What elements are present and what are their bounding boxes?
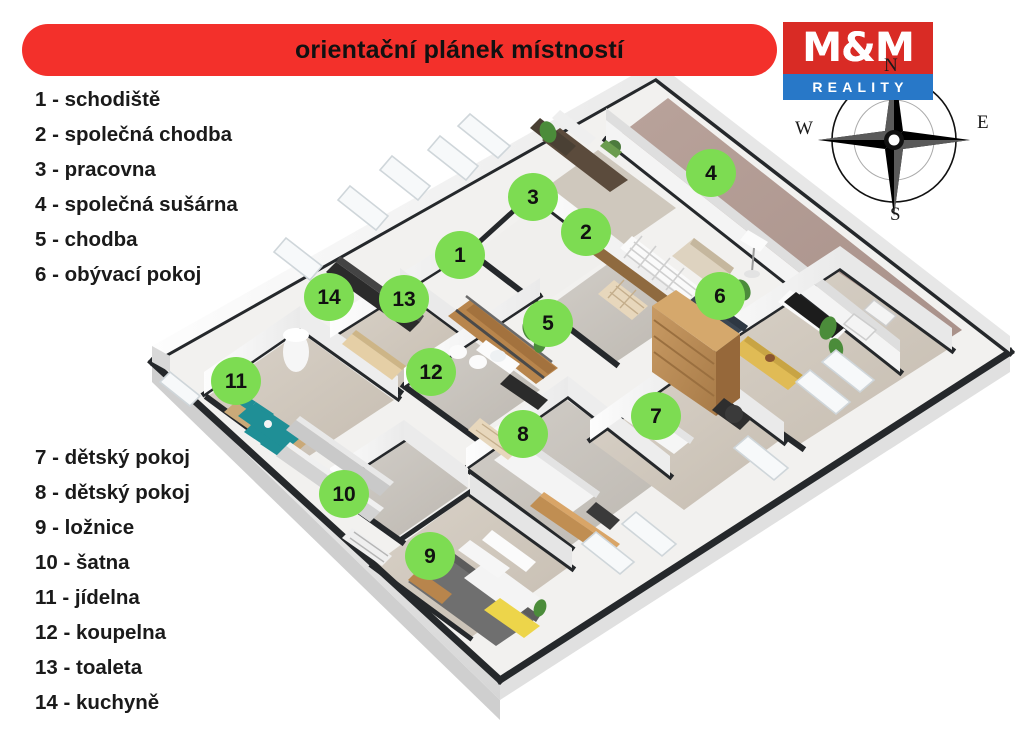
- room-marker-label: 11: [225, 371, 247, 392]
- legend-item-3: 3 - pracovna: [35, 160, 238, 181]
- legend-item-9: 9 - ložnice: [35, 518, 190, 539]
- room-marker-6: 6: [695, 272, 745, 320]
- compass-label-north: N: [884, 55, 898, 77]
- room-marker-label: 5: [542, 313, 554, 334]
- room-marker-label: 1: [454, 245, 466, 266]
- room-marker-label: 9: [424, 546, 436, 567]
- room-marker-14: 14: [304, 273, 354, 321]
- title-banner: orientační plánek místností: [22, 24, 777, 76]
- legend-item-14: 14 - kuchyně: [35, 693, 190, 714]
- room-marker-12: 12: [406, 348, 456, 396]
- room-marker-label: 13: [392, 289, 415, 310]
- legend-item-2: 2 - společná chodba: [35, 125, 238, 146]
- logo-brand-block: M&M: [783, 22, 933, 74]
- room-marker-1: 1: [435, 231, 485, 279]
- room-marker-13: 13: [379, 275, 429, 323]
- legend-item-6: 6 - obývací pokoj: [35, 265, 238, 286]
- legend-list-upper: 1 - schodiště 2 - společná chodba 3 - pr…: [35, 90, 238, 300]
- compass-label-west: W: [795, 118, 813, 140]
- room-marker-2: 2: [561, 208, 611, 256]
- compass-label-south: S: [890, 204, 901, 226]
- room-marker-8: 8: [498, 410, 548, 458]
- room-marker-label: 8: [517, 424, 529, 445]
- legend-item-13: 13 - toaleta: [35, 658, 190, 679]
- room-marker-label: 7: [650, 406, 662, 427]
- legend-item-11: 11 - jídelna: [35, 588, 190, 609]
- logo-subtitle-text: REALITY: [807, 79, 908, 95]
- room-marker-11: 11: [211, 357, 261, 405]
- legend-item-1: 1 - schodiště: [35, 90, 238, 111]
- legend-item-8: 8 - dětský pokoj: [35, 483, 190, 504]
- room-marker-label: 4: [705, 163, 717, 184]
- legend-item-4: 4 - společná sušárna: [35, 195, 238, 216]
- room-marker-label: 2: [580, 222, 592, 243]
- legend-list-lower: 7 - dětský pokoj 8 - dětský pokoj 9 - lo…: [35, 448, 190, 728]
- page-title: orientační plánek místností: [175, 36, 624, 65]
- room-marker-label: 12: [419, 362, 442, 383]
- room-marker-label: 6: [714, 286, 726, 307]
- room-marker-4: 4: [686, 149, 736, 197]
- legend-item-5: 5 - chodba: [35, 230, 238, 251]
- room-marker-7: 7: [631, 392, 681, 440]
- room-marker-label: 10: [332, 484, 355, 505]
- compass-label-east: E: [977, 112, 989, 134]
- mm-reality-logo: M&M REALITY: [783, 22, 933, 100]
- room-marker-3: 3: [508, 173, 558, 221]
- room-marker-10: 10: [319, 470, 369, 518]
- room-marker-label: 14: [317, 287, 340, 308]
- legend-item-7: 7 - dětský pokoj: [35, 448, 190, 469]
- room-marker-9: 9: [405, 532, 455, 580]
- legend-item-10: 10 - šatna: [35, 553, 190, 574]
- legend-item-12: 12 - koupelna: [35, 623, 190, 644]
- room-marker-label: 3: [527, 187, 539, 208]
- logo-subtitle-block: REALITY: [783, 74, 933, 100]
- room-marker-5: 5: [523, 299, 573, 347]
